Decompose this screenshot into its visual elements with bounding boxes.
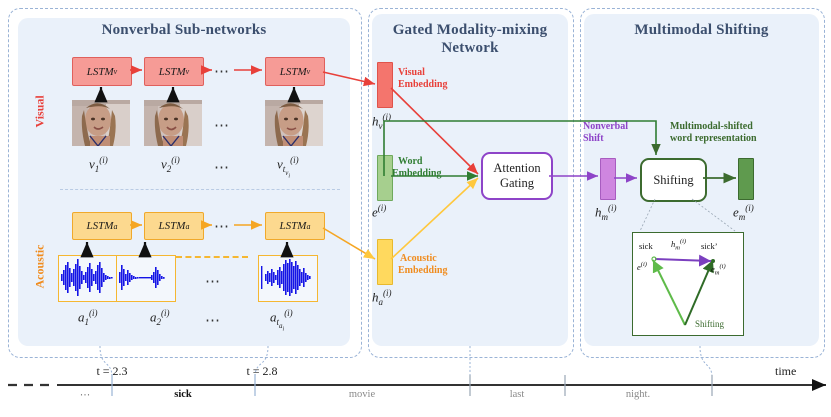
timeline-word-2: movie	[332, 389, 392, 400]
timeline-word-1: sick	[153, 389, 213, 400]
connector-layer	[0, 0, 831, 417]
timeline-word-0: ⋯	[55, 389, 115, 401]
timeline-word-3: last	[487, 389, 547, 400]
timeline-word-4: night.	[608, 389, 668, 400]
timeline-axis-label: time	[775, 364, 796, 379]
timeline-marker-2: t = 2.8	[212, 364, 312, 379]
timeline-marker-1: t = 2.3	[62, 364, 162, 379]
